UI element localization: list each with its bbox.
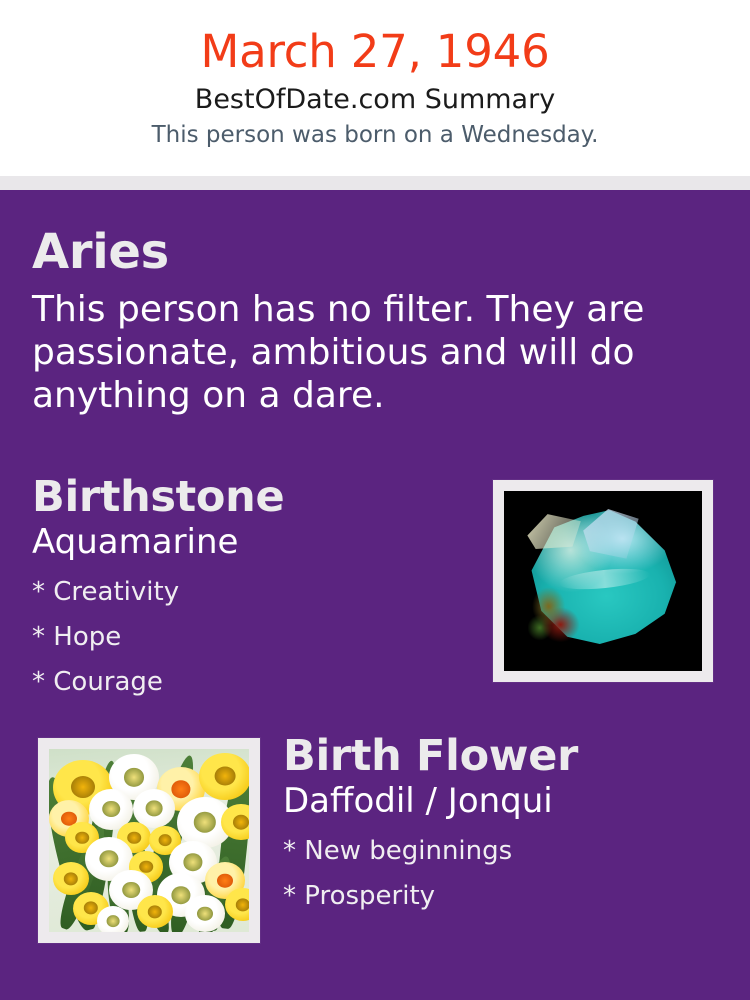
birth-flower-name: Daffodil / Jonqui <box>283 780 703 822</box>
birthstone-heading: Birthstone <box>32 471 472 523</box>
page-title-date: March 27, 1946 <box>200 26 549 78</box>
photo-background <box>504 491 702 671</box>
birth-flower-image-frame <box>38 738 260 943</box>
zodiac-sign-name: Aries <box>32 223 169 281</box>
birthstone-image-frame <box>493 480 713 682</box>
list-item: * Creativity <box>32 570 472 615</box>
list-item: * Courage <box>32 660 472 705</box>
site-subtitle: BestOfDate.com Summary <box>195 82 555 118</box>
birth-flower-trait-list: * New beginnings * Prosperity <box>283 829 703 919</box>
list-item: * New beginnings <box>283 829 703 874</box>
daffodil-bloom <box>97 906 129 932</box>
birthstone-trait-list: * Creativity * Hope * Courage <box>32 570 472 705</box>
card-header: March 27, 1946 BestOfDate.com Summary Th… <box>0 0 750 176</box>
aquamarine-crystal-photo <box>504 491 702 671</box>
date-summary-card: March 27, 1946 BestOfDate.com Summary Th… <box>0 0 750 1000</box>
photo-background <box>49 749 249 932</box>
birthstone-name: Aquamarine <box>32 521 472 563</box>
born-weekday-text: This person was born on a Wednesday. <box>152 119 599 151</box>
list-item: * Prosperity <box>283 874 703 919</box>
daffodil-bloom <box>199 753 249 801</box>
daffodil-bloom <box>185 895 225 932</box>
list-item: * Hope <box>32 615 472 660</box>
header-divider <box>0 176 750 190</box>
zodiac-description: This person has no filter. They are pass… <box>32 288 657 417</box>
birth-flower-block: Birth Flower Daffodil / Jonqui * New beg… <box>283 730 703 919</box>
crystal-inclusion <box>528 585 587 646</box>
birthstone-block: Birthstone Aquamarine * Creativity * Hop… <box>32 471 472 705</box>
birth-flower-heading: Birth Flower <box>283 730 703 782</box>
daffodil-flowers-photo <box>49 749 249 932</box>
